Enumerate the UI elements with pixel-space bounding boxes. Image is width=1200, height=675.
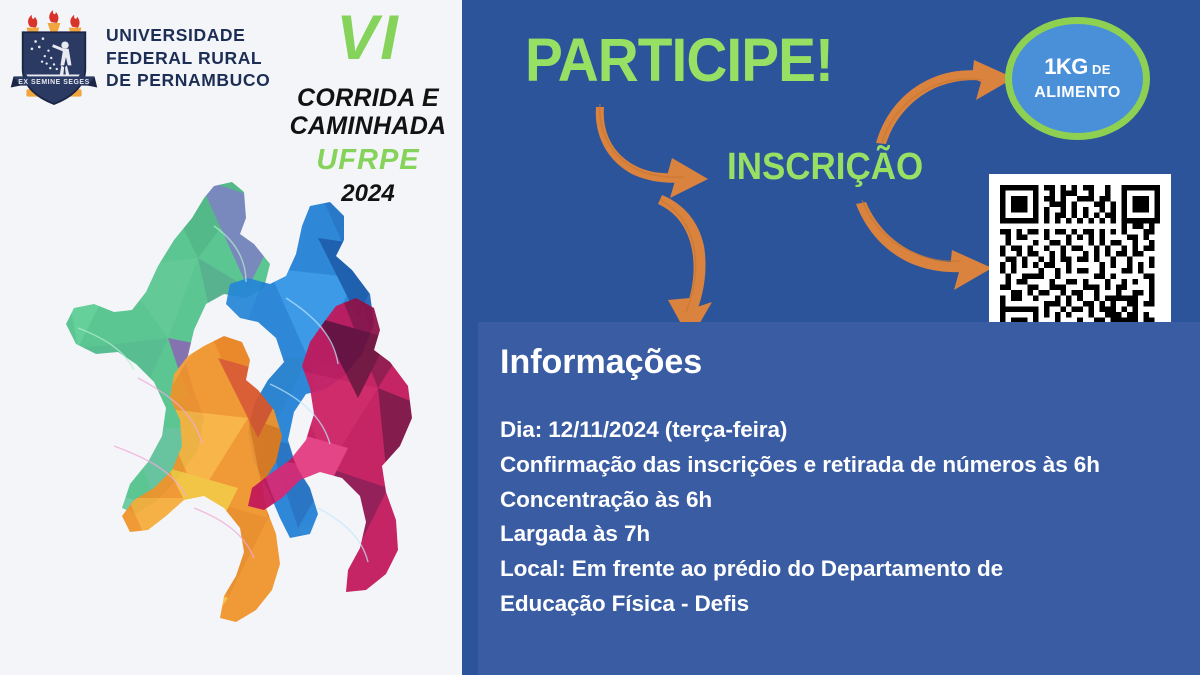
event-kind-line-1: CORRIDA E [278, 84, 458, 112]
headline-participe: PARTICIPE! [525, 30, 833, 91]
left-panel: EX SEMINE SEGES UNIVERSIDADE FEDERAL RUR… [0, 0, 462, 675]
university-name-line-2: FEDERAL RURAL [106, 47, 270, 70]
arrow-inscricao-to-qr [856, 200, 992, 290]
arrow-participe-to-badge [876, 60, 1014, 144]
info-line-gathering: Concentração às 6h [500, 483, 1200, 518]
svg-text:EX SEMINE SEGES: EX SEMINE SEGES [18, 79, 89, 86]
ufrpe-shield-logo: EX SEMINE SEGES [8, 10, 100, 106]
arrow-participe-to-inscricao [596, 104, 708, 198]
organizer-acronym: UFRPE [278, 144, 458, 177]
food-donation-badge: 1KG DE ALIMENTO [1005, 17, 1150, 140]
information-lines: Dia: 12/11/2024 (terça-feira) Confirmaçã… [500, 413, 1200, 621]
info-line-confirmation: Confirmação das inscrições e retirada de… [500, 448, 1200, 483]
university-name: UNIVERSIDADE FEDERAL RURAL DE PERNAMBUCO [106, 24, 270, 92]
badge-amount-line: 1KG DE [1044, 53, 1111, 81]
info-line-location-1: Local: Em frente ao prédio do Departamen… [500, 552, 1200, 587]
low-poly-runners-illustration [18, 178, 450, 668]
info-line-date: Dia: 12/11/2024 (terça-feira) [500, 413, 1200, 448]
right-panel: PARTICIPE! INSCRIÇÃO [462, 0, 1200, 675]
qr-code-pattern [1000, 185, 1160, 345]
university-name-line-3: DE PERNAMBUCO [106, 69, 270, 92]
arrow-inscricao-to-info [658, 195, 712, 340]
information-heading: Informações [500, 344, 1200, 381]
info-line-start: Largada às 7h [500, 517, 1200, 552]
info-line-location-2: Educação Física - Defis [500, 587, 1200, 622]
event-poster: EX SEMINE SEGES UNIVERSIDADE FEDERAL RUR… [0, 0, 1200, 675]
badge-item: ALIMENTO [1034, 83, 1120, 104]
university-branding: EX SEMINE SEGES UNIVERSIDADE FEDERAL RUR… [8, 8, 283, 108]
badge-amount: 1KG [1044, 54, 1088, 79]
event-kind-line-2: CAMINHADA [278, 112, 458, 140]
event-kind: CORRIDA E CAMINHADA [278, 84, 458, 140]
information-panel: Informações Dia: 12/11/2024 (terça-feira… [478, 322, 1200, 675]
registration-label: INSCRIÇÃO [727, 148, 923, 186]
university-name-line-1: UNIVERSIDADE [106, 24, 270, 47]
edition-roman-numeral: VI [278, 6, 458, 70]
badge-preposition: DE [1092, 62, 1111, 77]
